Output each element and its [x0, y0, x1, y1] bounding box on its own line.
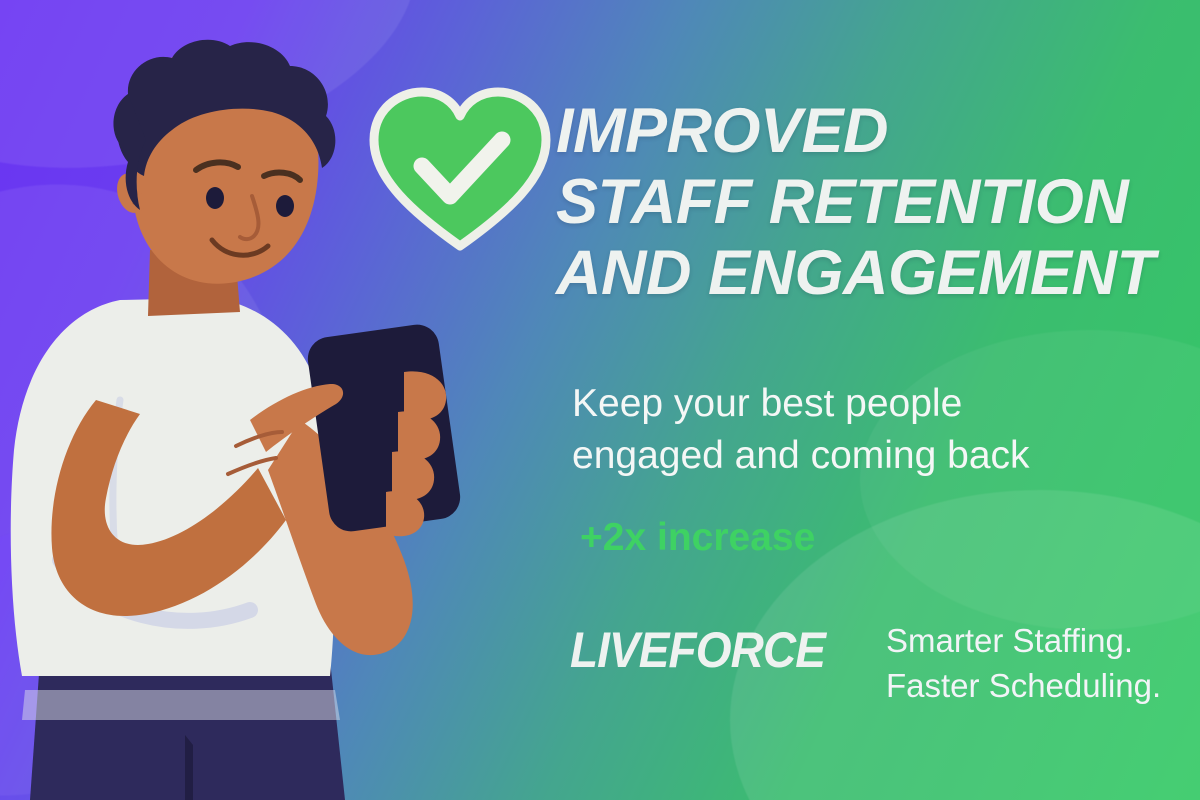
brand-row: LIVEFORCE Smarter Staffing. Faster Sched… — [570, 614, 1200, 714]
subtitle-line-2: engaged and coming back — [572, 430, 1192, 482]
subtitle-line-1: Keep your best people — [572, 378, 1192, 430]
stat-highlight: +2x increase — [580, 516, 815, 560]
heart-check-icon — [360, 78, 560, 258]
headline-line-3: AND ENGAGEMENT — [556, 238, 1200, 309]
tagline-line-2: Faster Scheduling. — [886, 663, 1161, 708]
tagline-line-1: Smarter Staffing. — [886, 618, 1161, 663]
brand-tagline: Smarter Staffing. Faster Scheduling. — [886, 618, 1161, 708]
headline-line-1: IMPROVED — [556, 96, 1200, 167]
subtitle: Keep your best people engaged and coming… — [572, 378, 1192, 482]
headline-line-2: STAFF RETENTION — [556, 167, 1200, 238]
marketing-banner: IMPROVED STAFF RETENTION AND ENGAGEMENT … — [0, 0, 1200, 800]
text-content: IMPROVED STAFF RETENTION AND ENGAGEMENT … — [556, 0, 1200, 800]
headline: IMPROVED STAFF RETENTION AND ENGAGEMENT — [556, 96, 1200, 309]
liveforce-logo: LIVEFORCE — [570, 624, 825, 676]
